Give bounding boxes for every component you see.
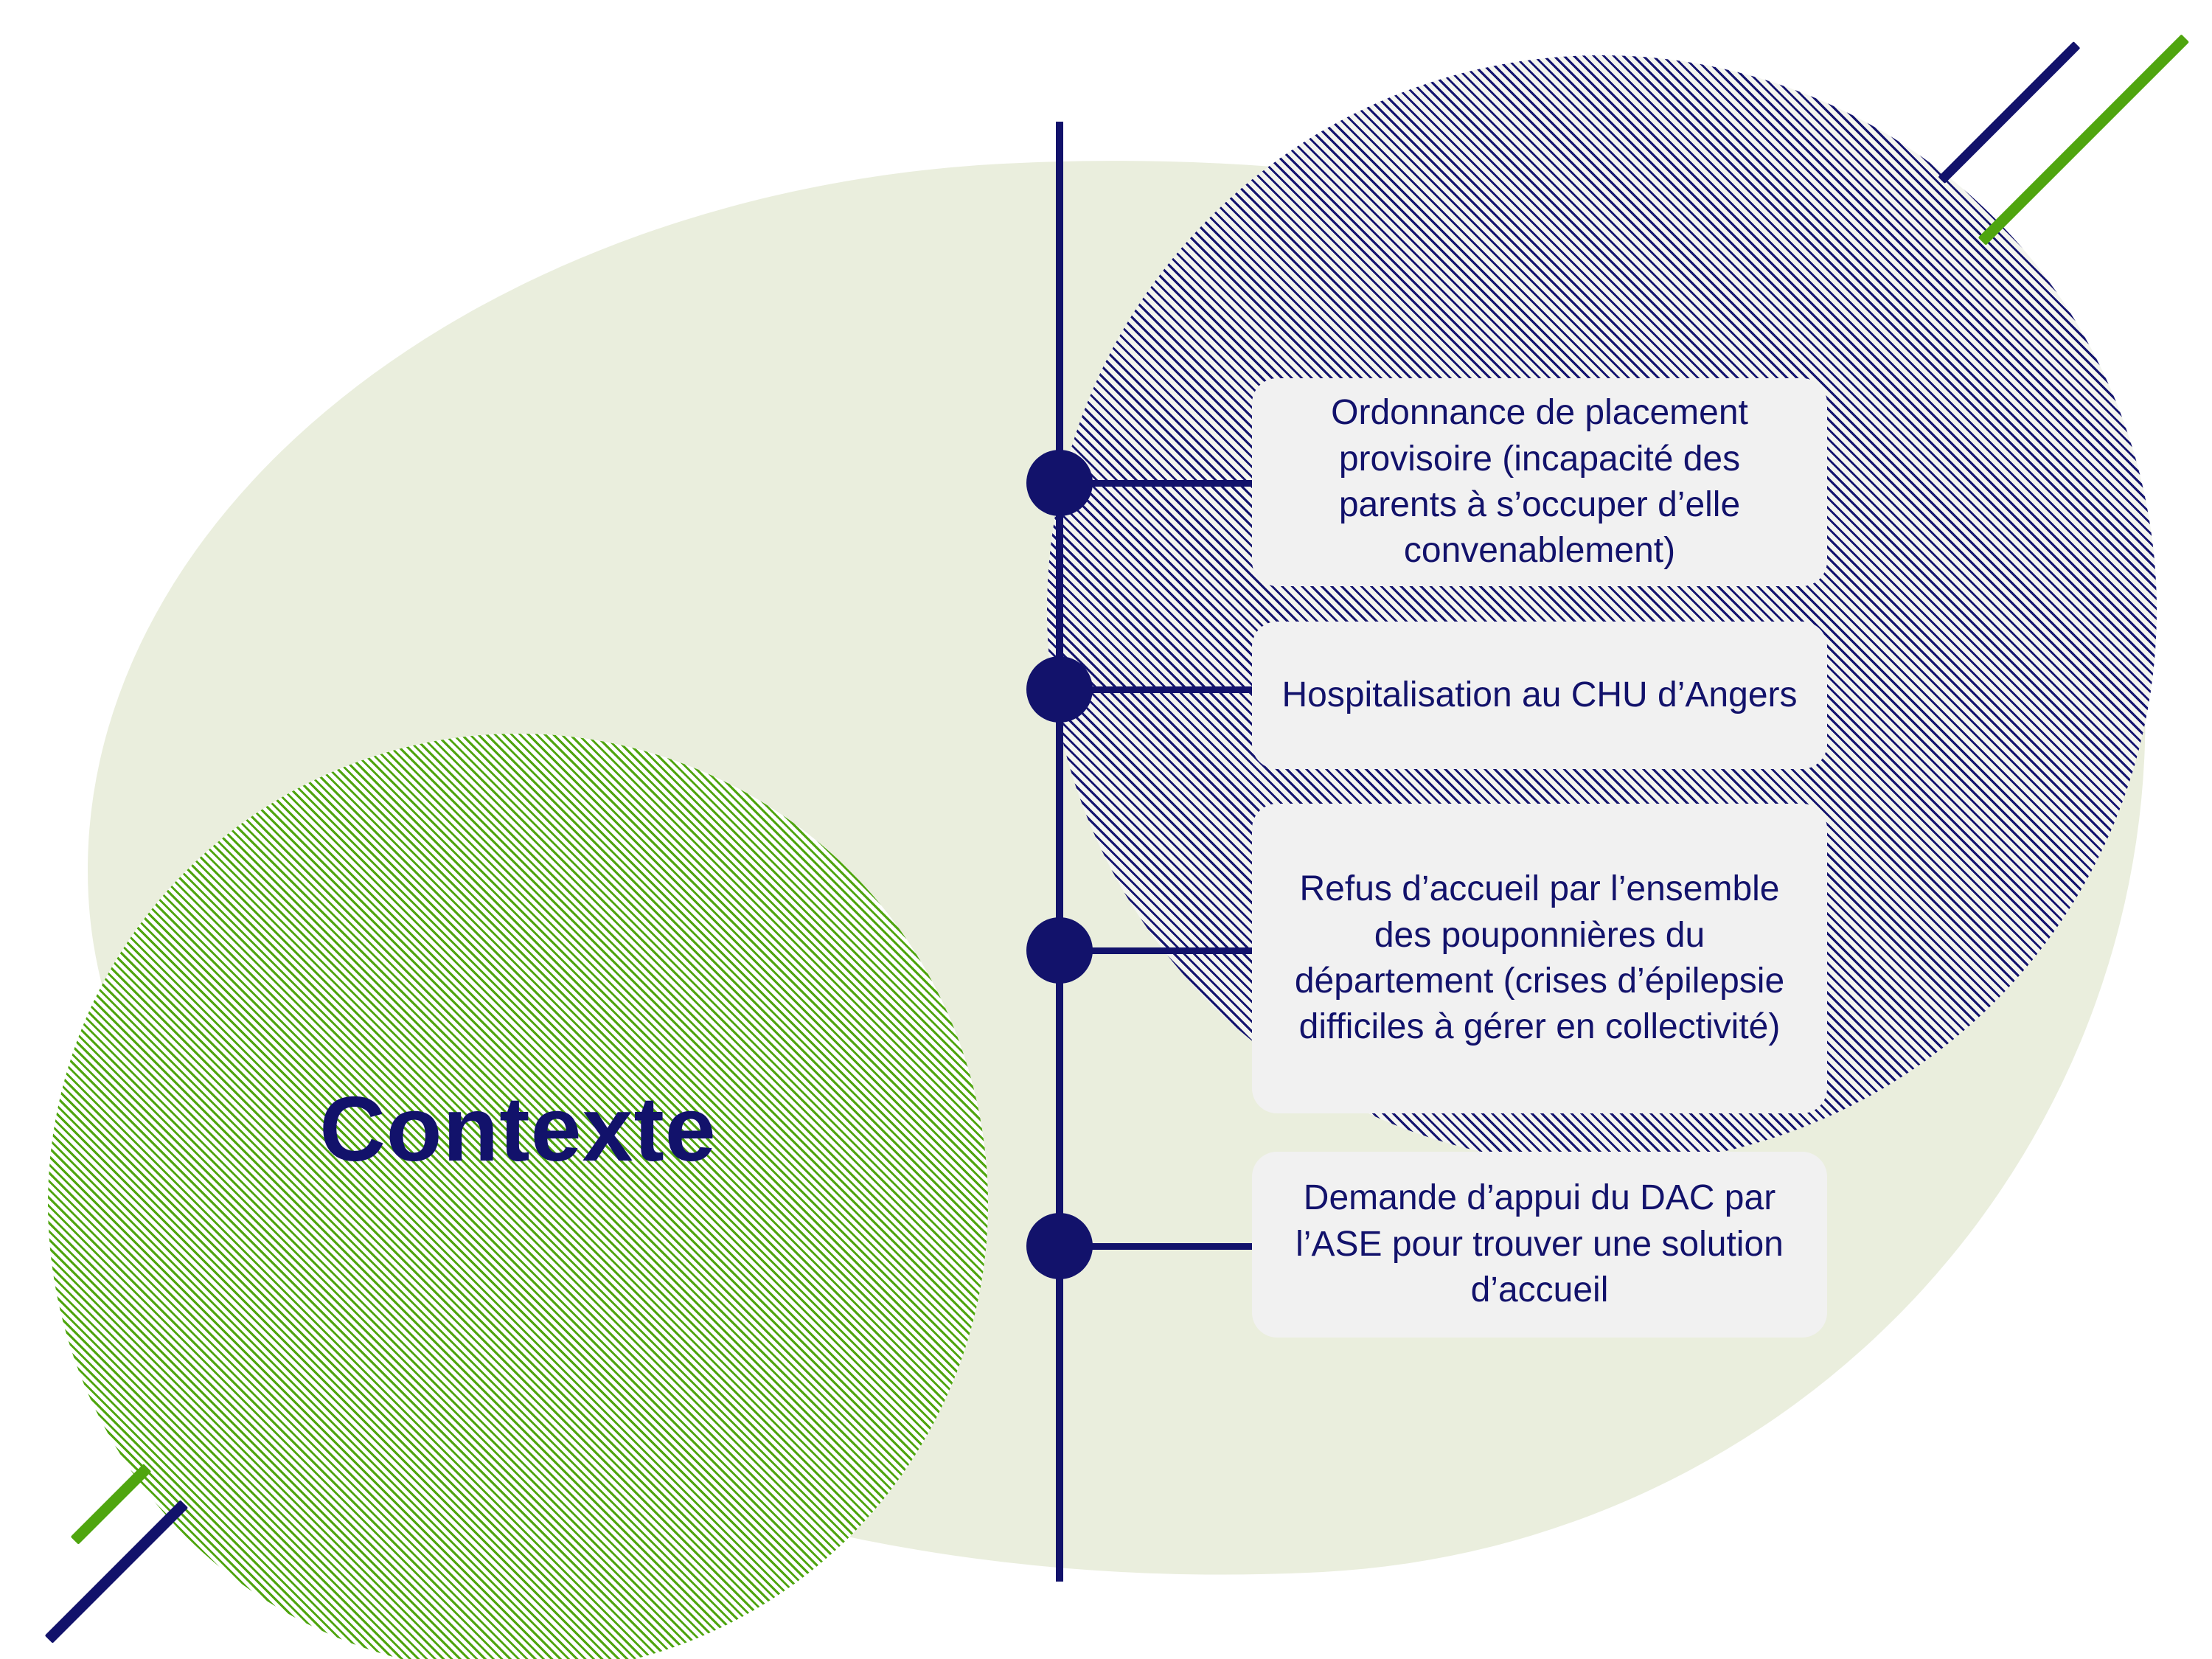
page-title: Contexte [48,1084,988,1175]
timeline-card-4-text: Demande d’appui du DAC par l’ASE pour tr… [1277,1175,1802,1313]
slide-canvas: Contexte Ordonnance de placement proviso… [0,0,2212,1659]
timeline-card-1-text: Ordonnance de placement provisoire (inca… [1277,390,1802,574]
timeline-dot-4[interactable] [1026,1213,1093,1279]
timeline-dot-3[interactable] [1026,917,1093,984]
decorative-line-bottom-left-green [71,1464,152,1545]
green-hatched-circle [48,734,988,1659]
timeline-card-2-text: Hospitalisation au CHU d’Angers [1277,672,1802,718]
timeline-axis [1056,122,1063,1582]
decorative-line-bottom-left-navy [45,1500,188,1643]
decorative-line-top-right-green [1978,34,2189,245]
timeline-card-2[interactable]: Hospitalisation au CHU d’Angers [1252,622,1827,769]
timeline-connector-3 [1088,947,1257,954]
timeline-connector-1 [1088,480,1257,487]
timeline-card-3-text: Refus d’accueil par l’ensemble des poupo… [1277,866,1802,1051]
timeline-connector-4 [1088,1243,1257,1250]
timeline-card-3[interactable]: Refus d’accueil par l’ensemble des poupo… [1252,804,1827,1113]
timeline-connector-2 [1088,686,1257,693]
timeline-dot-2[interactable] [1026,656,1093,723]
timeline-card-4[interactable]: Demande d’appui du DAC par l’ASE pour tr… [1252,1152,1827,1338]
timeline-dot-1[interactable] [1026,450,1093,516]
timeline-card-1[interactable]: Ordonnance de placement provisoire (inca… [1252,378,1827,586]
